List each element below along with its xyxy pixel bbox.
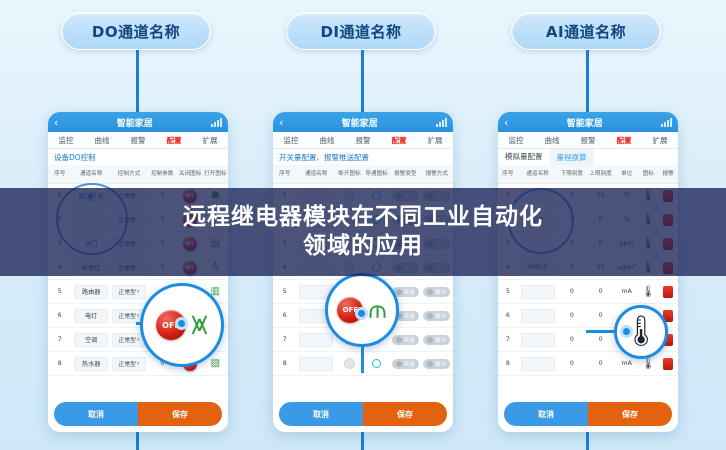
cell-control-mode[interactable]: 正常型▾: [111, 352, 147, 375]
cell-alarm-mode[interactable]: 断开: [421, 304, 453, 327]
nav-tabs: 监控 曲线 报警 配置 扩展: [48, 132, 228, 149]
tab-monitor[interactable]: 监控: [498, 135, 534, 146]
th-control-param: 控制参数: [147, 167, 178, 181]
cell-index: 6: [498, 304, 518, 327]
section-subtitle-do: 设备DO控制: [48, 149, 228, 165]
save-button[interactable]: 保存: [363, 402, 447, 426]
cell-control-mode[interactable]: 正常型▾: [111, 280, 147, 303]
ai-magnifier-dot: [620, 325, 633, 338]
cancel-button[interactable]: 取消: [54, 402, 138, 426]
cell-alarm-mode[interactable]: 断开: [421, 280, 453, 303]
th-icon: 图标: [638, 167, 658, 181]
cell-index: 6: [273, 304, 296, 327]
cell-index: 7: [48, 328, 71, 351]
th-index: 序号: [498, 167, 518, 181]
cell-alarm-mode[interactable]: 断开: [421, 352, 453, 375]
cell-index: 7: [498, 328, 518, 351]
do-magnifier-dot: [175, 317, 188, 330]
th-closed-icon: 导通图标: [363, 167, 390, 181]
table-header: 序号 通道名称 断开图标 导通图标 报警类型 报警方式: [273, 165, 453, 184]
cancel-button[interactable]: 取消: [279, 402, 363, 426]
cell-lower-limit[interactable]: 0: [557, 280, 586, 303]
magnified-basket-icon: ⫙: [368, 297, 386, 323]
cell-channel-name[interactable]: [518, 304, 558, 327]
cell-upper-limit[interactable]: 0: [586, 352, 615, 375]
overlay-line-2: 领域的应用: [303, 232, 423, 261]
app-bar: ‹ 智能家居: [498, 112, 678, 132]
th-index: 序号: [48, 167, 71, 181]
app-title: 智能家居: [283, 116, 436, 129]
label-ai-text: AI通道名称: [546, 21, 626, 42]
label-do-channel-name: DO通道名称: [61, 12, 211, 50]
cell-upper-limit[interactable]: 0: [586, 280, 615, 303]
tab-monitor[interactable]: 监控: [48, 135, 84, 146]
cell-channel-name[interactable]: 热水器: [71, 352, 111, 375]
subtitle-text: 开关量配置、报警推送配置: [279, 152, 369, 163]
app-bar: ‹ 智能家居: [48, 112, 228, 132]
tab-monitor[interactable]: 监控: [273, 135, 309, 146]
cell-index: 5: [498, 280, 518, 303]
cell-channel-name[interactable]: 电灯: [71, 304, 111, 327]
label-di-text: DI通道名称: [320, 21, 401, 42]
signal-icon: [436, 118, 447, 127]
tab-extend[interactable]: 扩展: [417, 135, 453, 146]
cell-closed-icon[interactable]: [363, 352, 390, 375]
app-title: 智能家居: [58, 116, 211, 129]
th-alarm-type: 报警类型: [390, 167, 421, 181]
cell-lower-limit[interactable]: 0: [557, 328, 586, 351]
di-magnifier-dot: [355, 307, 368, 320]
cell-channel-name[interactable]: [518, 328, 558, 351]
label-do-text: DO通道名称: [92, 21, 180, 42]
cell-index: 5: [48, 280, 71, 303]
th-lower-limit: 下限刻度: [557, 167, 586, 181]
save-button[interactable]: 保存: [138, 402, 222, 426]
cell-channel-name[interactable]: 空调: [71, 328, 111, 351]
tab-config[interactable]: 配置: [156, 135, 192, 146]
cell-upper-limit[interactable]: 0: [586, 304, 615, 327]
cell-alarm-mode[interactable]: 断开: [421, 328, 453, 351]
tab-alarm[interactable]: 报警: [120, 135, 156, 146]
overlay-banner: 远程继电器模块在不同工业自动化 领域的应用: [0, 188, 726, 276]
section-subtitle-di: 开关量配置、报警推送配置: [273, 149, 453, 165]
cell-channel-name[interactable]: 路由器: [71, 280, 111, 303]
tab-extend[interactable]: 扩展: [192, 135, 228, 146]
footer-actions: 取消 保存: [54, 402, 222, 426]
label-ai-channel-name: AI通道名称: [511, 12, 661, 50]
th-channel-name: 通道名称: [518, 167, 558, 181]
footer-actions: 取消 保存: [279, 402, 447, 426]
signal-icon: [211, 118, 222, 127]
tab-curve[interactable]: 曲线: [309, 135, 345, 146]
label-di-channel-name: DI通道名称: [286, 12, 436, 50]
nav-tabs: 监控 曲线 报警 配置 扩展: [273, 132, 453, 149]
magnified-router-icon: ⩙: [191, 310, 208, 340]
table-header: 序号 通道名称 下限刻度 上限刻度 单位 图标 报警: [498, 165, 678, 184]
th-on-icon: 打开图标: [203, 167, 228, 181]
th-channel-name: 通道名称: [296, 167, 336, 181]
cancel-button[interactable]: 取消: [504, 402, 588, 426]
cell-channel-name[interactable]: [296, 328, 336, 351]
cell-index: 8: [498, 352, 518, 375]
cell-index: 6: [48, 304, 71, 327]
th-alarm-mode: 报警方式: [421, 167, 453, 181]
tab-alarm[interactable]: 报警: [345, 135, 381, 146]
save-button[interactable]: 保存: [588, 402, 672, 426]
signal-icon: [661, 118, 672, 127]
tab-alarm[interactable]: 报警: [570, 135, 606, 146]
subtab-analog-config[interactable]: 模拟量配置: [498, 149, 550, 165]
cell-lower-limit[interactable]: 0: [557, 304, 586, 327]
tab-curve[interactable]: 曲线: [534, 135, 570, 146]
cell-lower-limit[interactable]: 0: [557, 352, 586, 375]
cell-alarm-type[interactable]: 禁用: [390, 352, 421, 375]
th-upper-limit: 上限刻度: [586, 167, 615, 181]
table-row[interactable]: 5 0 0 mA 🌡: [498, 280, 678, 304]
cell-index: 8: [48, 352, 71, 375]
cell-channel-name[interactable]: [518, 352, 558, 375]
tab-extend[interactable]: 扩展: [642, 135, 678, 146]
nav-tabs: 监控 曲线 报警 配置 扩展: [498, 132, 678, 149]
th-alarm: 报警: [658, 167, 678, 181]
cell-index: 5: [273, 280, 296, 303]
cell-alarm-icon[interactable]: [658, 352, 678, 375]
th-unit: 单位: [615, 167, 638, 181]
th-open-icon: 断开图标: [336, 167, 363, 181]
th-control-mode: 控制方式: [111, 167, 147, 181]
app-bar: ‹ 智能家居: [273, 112, 453, 132]
footer-actions: 取消 保存: [504, 402, 672, 426]
sub-tabs-ai: 模拟量配置 量程换算: [498, 149, 678, 165]
cell-alarm-type[interactable]: 禁用: [390, 328, 421, 351]
cell-index: 8: [273, 352, 296, 375]
cell-channel-name[interactable]: [296, 352, 336, 375]
cell-unit[interactable]: mA: [615, 280, 638, 303]
app-title: 智能家居: [508, 116, 661, 129]
cell-alarm-icon[interactable]: [658, 280, 678, 303]
tab-config[interactable]: 配置: [381, 135, 417, 146]
th-index: 序号: [273, 167, 296, 181]
cell-channel-name[interactable]: [518, 280, 558, 303]
tab-curve[interactable]: 曲线: [84, 135, 120, 146]
subtitle-text: 设备DO控制: [54, 152, 96, 163]
cell-icon[interactable]: 🌡: [638, 280, 658, 303]
th-channel-name: 通道名称: [71, 167, 111, 181]
th-off-icon: 关闭图标: [178, 167, 203, 181]
tab-config[interactable]: 配置: [606, 135, 642, 146]
subtab-range-conversion[interactable]: 量程换算: [550, 149, 594, 165]
cell-open-icon[interactable]: [336, 352, 363, 375]
overlay-line-1: 远程继电器模块在不同工业自动化: [183, 203, 543, 232]
table-header: 序号 通道名称 控制方式 控制参数 关闭图标 打开图标: [48, 165, 228, 184]
cell-index: 7: [273, 328, 296, 351]
